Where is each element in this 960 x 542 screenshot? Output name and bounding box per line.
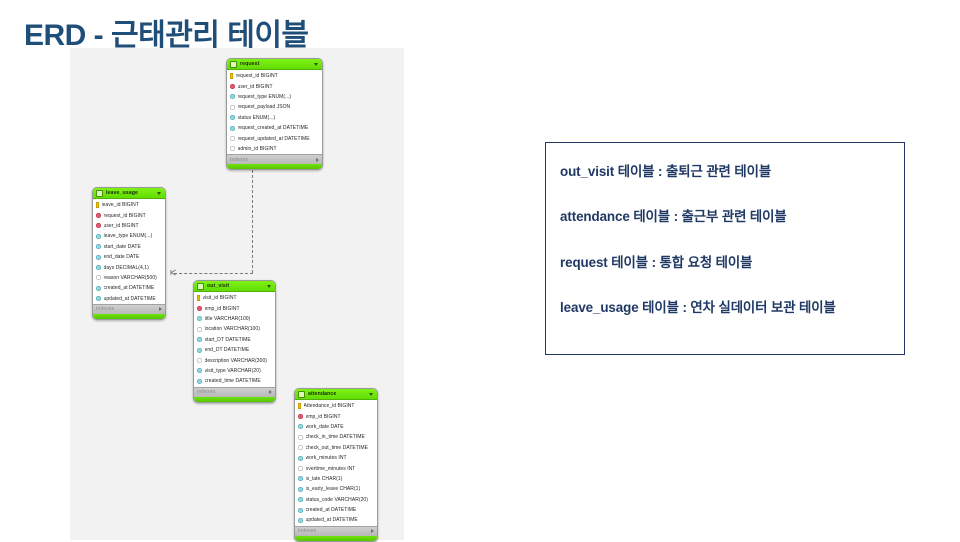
erd-column-row[interactable]: status ENUM(...) xyxy=(227,113,322,123)
erd-column-row[interactable]: request_type ENUM(...) xyxy=(227,92,322,102)
column-icon xyxy=(298,518,303,523)
foreign-key-icon xyxy=(197,306,202,311)
erd-table-header[interactable]: request xyxy=(227,59,322,70)
erd-table-bottom-bar xyxy=(227,164,322,169)
erd-column-row[interactable]: end_DT DATETIME xyxy=(194,345,275,355)
erd-column-row[interactable]: location VARCHAR(100) xyxy=(194,324,275,334)
erd-column-row[interactable]: status_code VARCHAR(20) xyxy=(295,495,377,505)
erd-column-row[interactable]: work_minutes INT xyxy=(295,453,377,463)
erd-column-row[interactable]: visit_id BIGINT xyxy=(194,293,275,303)
erd-table-name: leave_usage xyxy=(106,190,154,196)
erd-indexes-row[interactable]: Indexes xyxy=(194,387,275,397)
erd-column-label: created_time DATETIME xyxy=(205,378,261,384)
relationship-line-request-vertical xyxy=(252,160,253,273)
erd-column-row[interactable]: request_id BIGINT xyxy=(227,71,322,81)
erd-column-list: visit_id BIGINT emp_id BIGINT title VARC… xyxy=(194,292,275,387)
erd-table-request[interactable]: request request_id BIGINT user_id BIGINT… xyxy=(226,58,323,170)
column-icon xyxy=(197,368,202,373)
description-line-attendance: attendance 테이블 : 출근부 관련 테이블 xyxy=(560,210,888,223)
erd-table-header[interactable]: out_visit xyxy=(194,281,275,292)
erd-column-row[interactable]: check_in_time DATETIME xyxy=(295,432,377,442)
erd-column-row[interactable]: created_time DATETIME xyxy=(194,376,275,386)
description-line-leave-usage: leave_usage 테이블 : 연차 실데이터 보관 테이블 xyxy=(560,301,888,314)
erd-column-label: check_in_time DATETIME xyxy=(306,434,365,440)
erd-column-row[interactable]: emp_id BIGINT xyxy=(194,303,275,313)
erd-column-row[interactable]: leave_type ENUM(...) xyxy=(93,231,165,241)
relationship-line-request-horizontal xyxy=(174,273,253,274)
erd-column-label: overtime_minutes INT xyxy=(306,466,356,472)
erd-column-row[interactable]: user_id BIGINT xyxy=(93,221,165,231)
chevron-down-icon[interactable] xyxy=(267,285,271,288)
erd-indexes-label: Indexes xyxy=(197,389,215,395)
erd-column-row[interactable]: request_payload JSON xyxy=(227,102,322,112)
erd-column-list: request_id BIGINT user_id BIGINT request… xyxy=(227,70,322,154)
chevron-right-icon[interactable] xyxy=(371,529,374,533)
column-icon xyxy=(197,379,202,384)
erd-column-label: end_date DATE xyxy=(104,254,140,260)
primary-key-icon xyxy=(197,295,200,301)
primary-key-icon xyxy=(230,73,233,79)
column-icon xyxy=(298,508,303,513)
erd-indexes-label: Indexes xyxy=(298,528,316,534)
erd-table-name: request xyxy=(240,61,311,67)
erd-column-label: updated_at DATETIME xyxy=(306,517,358,523)
erd-column-label: updated_at DATETIME xyxy=(104,296,156,302)
erd-table-bottom-bar xyxy=(93,314,165,319)
erd-column-row[interactable]: reason VARCHAR(500) xyxy=(93,273,165,283)
nullable-column-icon xyxy=(197,327,202,332)
erd-column-label: reason VARCHAR(500) xyxy=(104,275,157,281)
erd-column-row[interactable]: visit_type VARCHAR(20) xyxy=(194,366,275,376)
nullable-column-icon xyxy=(230,105,235,110)
erd-column-label: end_DT DATETIME xyxy=(205,347,250,353)
erd-column-label: user_id BIGINT xyxy=(238,84,273,90)
column-icon xyxy=(298,456,303,461)
table-icon xyxy=(230,61,237,68)
erd-column-label: created_at DATETIME xyxy=(306,507,357,513)
erd-column-label: emp_id BIGINT xyxy=(306,414,341,420)
erd-column-label: user_id BIGINT xyxy=(104,223,139,229)
erd-table-header[interactable]: leave_usage xyxy=(93,188,165,199)
column-icon xyxy=(230,94,235,99)
erd-column-label: is_late CHAR(1) xyxy=(306,476,343,482)
erd-column-row[interactable]: end_date DATE xyxy=(93,252,165,262)
erd-column-label: leave_type ENUM(...) xyxy=(104,233,153,239)
table-icon xyxy=(197,283,204,290)
erd-column-list: Attendance_id BIGINT emp_id BIGINT work_… xyxy=(295,400,377,526)
erd-column-label: leave_id BIGINT xyxy=(102,202,139,208)
erd-column-row[interactable]: description VARCHAR(300) xyxy=(194,355,275,365)
erd-table-name: attendance xyxy=(308,391,366,397)
erd-column-row[interactable]: is_early_leave CHAR(1) xyxy=(295,484,377,494)
erd-column-row[interactable]: updated_at DATETIME xyxy=(93,294,165,304)
foreign-key-icon xyxy=(96,213,101,218)
column-icon xyxy=(230,126,235,131)
nullable-column-icon xyxy=(96,275,101,280)
erd-column-list: leave_id BIGINT request_id BIGINT user_i… xyxy=(93,199,165,304)
erd-column-label: Attendance_id BIGINT xyxy=(304,403,355,409)
erd-column-label: start_date DATE xyxy=(104,244,141,250)
erd-column-label: visit_type VARCHAR(20) xyxy=(205,368,261,374)
chevron-right-icon[interactable] xyxy=(269,390,272,394)
erd-indexes-row[interactable]: Indexes xyxy=(93,304,165,314)
description-line-request: request 테이블 : 통합 요청 테이블 xyxy=(560,256,888,269)
column-icon xyxy=(197,348,202,353)
erd-column-row[interactable]: user_id BIGINT xyxy=(227,81,322,91)
foreign-key-icon xyxy=(230,84,235,89)
nullable-column-icon xyxy=(298,435,303,440)
column-icon xyxy=(96,286,101,291)
erd-canvas: request request_id BIGINT user_id BIGINT… xyxy=(70,48,404,540)
erd-column-label: request_id BIGINT xyxy=(236,73,278,79)
chevron-down-icon[interactable] xyxy=(314,63,318,66)
erd-column-label: request_payload JSON xyxy=(238,104,291,110)
erd-column-row[interactable]: emp_id BIGINT xyxy=(295,411,377,421)
erd-table-bottom-bar xyxy=(194,397,275,402)
column-icon xyxy=(230,115,235,120)
column-icon xyxy=(298,487,303,492)
erd-table-name: out_visit xyxy=(207,283,264,289)
chevron-down-icon[interactable] xyxy=(369,393,373,396)
table-icon xyxy=(298,391,305,398)
primary-key-icon xyxy=(96,202,99,208)
erd-column-row[interactable]: work_date DATE xyxy=(295,422,377,432)
erd-column-label: status_code VARCHAR(20) xyxy=(306,497,368,503)
nullable-column-icon xyxy=(230,146,235,151)
erd-table-out-visit[interactable]: out_visit visit_id BIGINT emp_id BIGINT … xyxy=(193,280,276,403)
erd-column-row[interactable]: Attendance_id BIGINT xyxy=(295,401,377,411)
erd-table-attendance[interactable]: attendance Attendance_id BIGINT emp_id B… xyxy=(294,388,378,542)
erd-column-label: start_DT DATETIME xyxy=(205,337,251,343)
erd-column-label: visit_id BIGINT xyxy=(203,295,237,301)
erd-column-label: request_id BIGINT xyxy=(104,213,146,219)
column-icon xyxy=(96,265,101,270)
erd-column-row[interactable]: updated_at DATETIME xyxy=(295,515,377,525)
erd-column-row[interactable]: admin_id BIGINT xyxy=(227,144,322,154)
table-icon xyxy=(96,190,103,197)
erd-column-row[interactable]: leave_id BIGINT xyxy=(93,200,165,210)
erd-column-label: days DECIMAL(4,1) xyxy=(104,265,149,271)
erd-column-row[interactable]: request_updated_at DATETIME xyxy=(227,133,322,143)
chevron-down-icon[interactable] xyxy=(157,192,161,195)
erd-column-row[interactable]: created_at DATETIME xyxy=(295,505,377,515)
erd-column-row[interactable]: is_late CHAR(1) xyxy=(295,474,377,484)
description-box: out_visit 테이블 : 출퇴근 관련 테이블 attendance 테이… xyxy=(545,142,905,355)
nullable-column-icon xyxy=(230,136,235,141)
nullable-column-icon xyxy=(298,466,303,471)
erd-column-label: request_created_at DATETIME xyxy=(238,125,309,131)
erd-column-label: status ENUM(...) xyxy=(238,115,276,121)
column-icon xyxy=(197,316,202,321)
erd-column-label: work_date DATE xyxy=(306,424,344,430)
column-icon xyxy=(298,476,303,481)
erd-column-row[interactable]: start_date DATE xyxy=(93,242,165,252)
erd-column-label: is_early_leave CHAR(1) xyxy=(306,486,361,492)
primary-key-icon xyxy=(298,403,301,409)
description-line-out-visit: out_visit 테이블 : 출퇴근 관련 테이블 xyxy=(560,165,888,178)
nullable-column-icon xyxy=(298,445,303,450)
erd-indexes-label: Indexes xyxy=(96,306,114,312)
column-icon xyxy=(298,497,303,502)
column-icon xyxy=(197,337,202,342)
column-icon xyxy=(96,255,101,260)
erd-column-row[interactable]: created_at DATETIME xyxy=(93,283,165,293)
erd-column-label: title VARCHAR(100) xyxy=(205,316,251,322)
erd-column-label: emp_id BIGINT xyxy=(205,306,240,312)
erd-column-label: work_minutes INT xyxy=(306,455,347,461)
erd-column-label: location VARCHAR(100) xyxy=(205,326,260,332)
erd-column-row[interactable]: overtime_minutes INT xyxy=(295,463,377,473)
erd-indexes-row[interactable]: Indexes xyxy=(295,526,377,536)
erd-table-leave-usage[interactable]: leave_usage leave_id BIGINT request_id B… xyxy=(92,187,166,320)
erd-column-row[interactable]: check_out_time DATETIME xyxy=(295,443,377,453)
erd-column-row[interactable]: start_DT DATETIME xyxy=(194,335,275,345)
erd-indexes-label: Indexes xyxy=(230,157,248,163)
erd-column-label: request_updated_at DATETIME xyxy=(238,136,310,142)
erd-column-label: request_type ENUM(...) xyxy=(238,94,292,100)
erd-column-label: admin_id BIGINT xyxy=(238,146,277,152)
erd-column-label: created_at DATETIME xyxy=(104,285,155,291)
chevron-right-icon[interactable] xyxy=(159,307,162,311)
foreign-key-icon xyxy=(298,414,303,419)
chevron-right-icon[interactable] xyxy=(316,158,319,162)
erd-indexes-row[interactable]: Indexes xyxy=(227,154,322,164)
crows-foot-icon xyxy=(170,269,177,276)
erd-column-label: description VARCHAR(300) xyxy=(205,358,268,364)
column-icon xyxy=(96,244,101,249)
foreign-key-icon xyxy=(96,223,101,228)
erd-table-header[interactable]: attendance xyxy=(295,389,377,400)
erd-column-row[interactable]: days DECIMAL(4,1) xyxy=(93,262,165,272)
column-icon xyxy=(96,234,101,239)
erd-column-row[interactable]: request_id BIGINT xyxy=(93,210,165,220)
erd-column-label: check_out_time DATETIME xyxy=(306,445,368,451)
nullable-column-icon xyxy=(197,358,202,363)
column-icon xyxy=(298,424,303,429)
column-icon xyxy=(96,296,101,301)
erd-column-row[interactable]: request_created_at DATETIME xyxy=(227,123,322,133)
erd-column-row[interactable]: title VARCHAR(100) xyxy=(194,314,275,324)
